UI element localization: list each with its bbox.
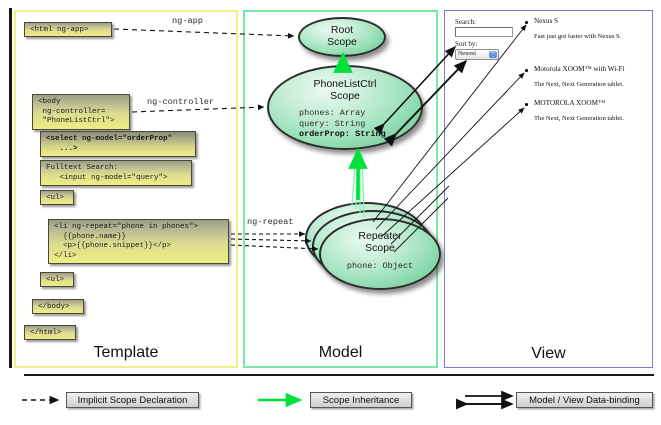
view-phone-name: MOTOROLA XOOM™: [534, 99, 605, 107]
scope-root-title-1: Root: [300, 19, 384, 36]
connector-label-ng-controller: ng-controller: [147, 97, 214, 107]
scope-root-title-2: Scope: [300, 36, 384, 48]
view-sort-label: Sort by:: [455, 40, 477, 48]
panel-template-label: Template: [16, 344, 236, 362]
list-bullet-icon: [525, 103, 528, 106]
template-box-ul-open: <ul>: [40, 190, 74, 205]
diagram-canvas: Template <html ng-app> <body ng-controll…: [0, 0, 661, 425]
view-search-input[interactable]: [455, 27, 513, 37]
chevron-updown-icon: [489, 51, 497, 58]
scope-root: Root Scope: [298, 17, 386, 57]
panel-view: View: [444, 10, 653, 368]
view-phone-snippet: Fast just got faster with Nexus S.: [534, 33, 621, 40]
view-phone-name: Nexus S: [534, 17, 558, 25]
legend-divider: [24, 374, 654, 376]
left-spine-bar: [9, 8, 12, 368]
connector-label-ng-repeat: ng-repeat: [247, 217, 293, 227]
scope-prop-query: query: String: [299, 119, 421, 130]
list-bullet-icon: [525, 69, 528, 72]
view-sort-selected-value: Newest: [458, 51, 476, 57]
scope-repeater-title-2: Scope: [321, 242, 439, 254]
template-box-li-repeat: <li ng-repeat="phone in phones"> {{phone…: [48, 219, 229, 264]
scope-prop-orderprop: orderProp: String: [299, 129, 421, 140]
legend-label-implicit-scope: Implicit Scope Declaration: [66, 392, 199, 408]
panel-view-label: View: [445, 345, 652, 363]
template-box-body-close: </body>: [32, 299, 84, 314]
template-box-body-tag: <body ng-controller= "PhoneListCtrl">: [32, 94, 130, 130]
scope-prop-phones: phones: Array: [299, 108, 421, 119]
template-box-html-tag: <html ng-app>: [24, 22, 112, 37]
panel-model: Model: [243, 10, 438, 368]
scope-phonelistctrl-title-2: Scope: [269, 90, 421, 102]
view-phone-snippet: The Next, Next Generation tablet.: [534, 81, 624, 88]
list-bullet-icon: [525, 21, 528, 24]
legend-label-data-binding: Model / View Data-binding: [516, 392, 653, 408]
template-box-select-tag: <select ng-model="orderProp" ...>: [40, 131, 196, 157]
view-phone-snippet: The Next, Next Generation tablet.: [534, 115, 624, 122]
view-phone-name: Motorola XOOM™ with Wi-Fi: [534, 65, 625, 73]
template-box-search-input: Fulltext Search: <input ng-model="query"…: [40, 160, 192, 186]
view-sort-select[interactable]: Newest: [455, 49, 499, 60]
panel-template: Template: [14, 10, 238, 368]
template-box-ul-close: <ul>: [40, 272, 74, 287]
scope-repeater-prop-phone: phone: Object: [321, 261, 439, 272]
connector-label-ng-app: ng-app: [172, 16, 203, 26]
scope-phonelistctrl: PhoneListCtrl Scope phones: Array query:…: [267, 65, 423, 150]
scope-repeater: Repeater Scope phone: Object: [319, 218, 441, 290]
legend-label-scope-inheritance: Scope Inheritance: [310, 392, 412, 408]
scope-phonelistctrl-title-1: PhoneListCtrl: [269, 67, 421, 90]
panel-model-label: Model: [245, 344, 436, 362]
view-search-label: Search:: [455, 18, 476, 26]
template-box-html-close: </html>: [24, 325, 76, 340]
scope-repeater-title-1: Repeater: [321, 220, 439, 242]
